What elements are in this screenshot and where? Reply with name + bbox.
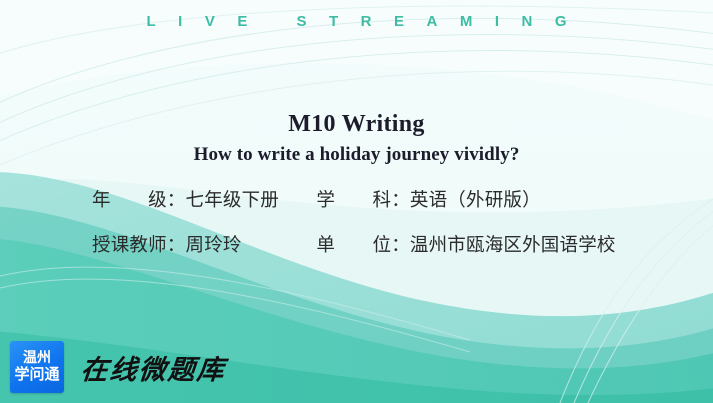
course-meta-block: 年 级：七年级下册 学 科：英语（外研版） 授课教师：周玲玲 单 位：温州市瓯海…: [92, 192, 616, 255]
page-subtitle: How to write a holiday journey vividly?: [0, 143, 713, 168]
wenzhou-xuewentong-logo: 温州 学问通: [10, 341, 64, 393]
meta-row-grade-subject: 年 级：七年级下册 学 科：英语（外研版）: [92, 192, 616, 211]
title-block: M10 Writing How to write a holiday journ…: [0, 110, 713, 168]
footer-branding: 温州 学问通 在线微题库: [10, 341, 226, 393]
presentation-cover-slide: LIVE STREAMING M10 Writing How to write …: [0, 0, 713, 403]
brand-script-text: 在线微题库: [79, 348, 227, 387]
logo-text-line-1: 温州: [23, 351, 51, 366]
page-title: M10 Writing: [0, 110, 713, 138]
meta-row-teacher-school: 授课教师：周玲玲 单 位：温州市瓯海区外国语学校: [92, 237, 616, 256]
logo-text-line-2: 学问通: [14, 366, 59, 382]
